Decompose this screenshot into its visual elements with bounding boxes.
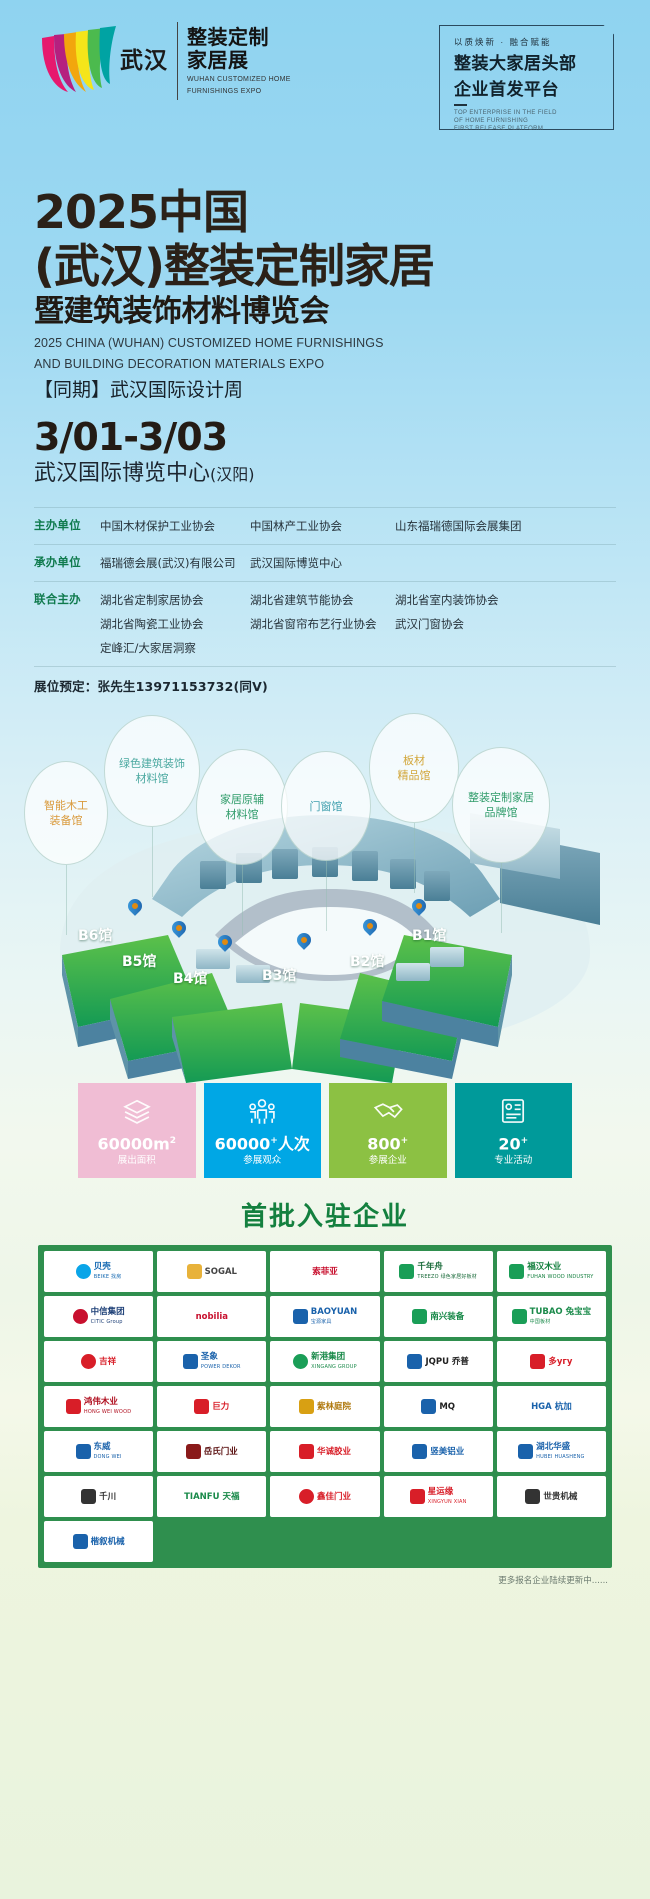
- exhibitor-logo-mark-icon: [81, 1354, 96, 1369]
- stat-value: 20+: [498, 1132, 528, 1153]
- exhibitor-logo[interactable]: nobilia: [157, 1296, 266, 1337]
- stat-superscript: +: [521, 1136, 529, 1146]
- exhibitor-logo-text: 湖北华盛HUBEI HUASHENG: [536, 1442, 584, 1462]
- organizer-cell: 山东福瑞德国际会展集团: [395, 517, 616, 535]
- exhibitor-logo-mark-icon: [407, 1354, 422, 1369]
- organizer-cell: 武汉门窗协会: [395, 615, 616, 633]
- hall-label[interactable]: B3馆: [262, 965, 296, 985]
- exhibitor-logo-text: 福汉木业FUHAN WOOD INDUSTRY: [527, 1262, 593, 1282]
- pavilion-label: 板材精品馆: [398, 753, 431, 783]
- exhibitor-logo-inner: 鑫佳门业: [299, 1489, 351, 1504]
- map-pin-icon[interactable]: [128, 899, 142, 919]
- map-pin-icon[interactable]: [172, 921, 186, 941]
- stat-number: 800: [367, 1134, 400, 1153]
- exhibitor-logo-mark-icon: [512, 1309, 527, 1324]
- exhibitor-logo-inner: 世贵机械: [525, 1489, 577, 1504]
- exhibitor-logo-inner: 福汉木业FUHAN WOOD INDUSTRY: [509, 1262, 593, 1282]
- exhibitor-logo-mark-icon: [299, 1444, 314, 1459]
- badge-line2: 企业首发平台: [454, 80, 613, 100]
- exhibitor-logo[interactable]: 新港集团XINGANG GROUP: [270, 1341, 379, 1382]
- organizer-line: 湖北省定制家居协会湖北省建筑节能协会湖北省室内装饰协会: [100, 591, 616, 609]
- stat-caption: 展出面积: [118, 1154, 156, 1167]
- exhibitor-logo[interactable]: 圣象POWER DEKOR: [157, 1341, 266, 1382]
- exhibitor-logo[interactable]: 索菲亚: [270, 1251, 379, 1292]
- exhibitor-logo-text: SOGAL: [205, 1267, 237, 1277]
- exhibitor-logo[interactable]: 鸿伟木业HONG WEI WOOD: [44, 1386, 153, 1427]
- organizer-cell: 福瑞德会展(武汉)有限公司: [100, 554, 250, 572]
- exhibitor-logo[interactable]: 千川: [44, 1476, 153, 1517]
- pavilion-label: 家居原辅材料馆: [220, 792, 264, 822]
- exhibitor-logo-text: BAOYUAN宝源家具: [311, 1307, 357, 1327]
- exhibitors-footnote: 更多报名企业陆续更新中......: [0, 1574, 608, 1586]
- exhibitor-name: 华诚胶业: [317, 1447, 351, 1457]
- exhibitor-logo-text: 鸿伟木业HONG WEI WOOD: [84, 1397, 131, 1417]
- exhibitor-logo-inner: 巨力: [194, 1399, 229, 1414]
- venue-sub: (汉阳): [210, 465, 255, 484]
- exhibitor-name: 湖北华盛: [536, 1442, 570, 1452]
- exhibitor-logo-inner: TUBAO 兔宝宝中国板材: [512, 1307, 591, 1327]
- exhibitor-logo-inner: BAOYUAN宝源家具: [293, 1307, 357, 1327]
- exhibitor-logo-mark-icon: [66, 1399, 81, 1414]
- hall-label[interactable]: B6馆: [78, 925, 112, 945]
- organizer-cell: 湖北省室内装饰协会: [395, 591, 616, 609]
- exhibitor-name: TUBAO 兔宝宝: [530, 1307, 591, 1317]
- exhibitor-name: 岳氏门业: [204, 1447, 238, 1457]
- exhibitor-logo-mark-icon: [293, 1309, 308, 1324]
- exhibitor-name: TIANFU 天福: [184, 1492, 239, 1502]
- exhibitor-subtitle: CITIC Group: [91, 1317, 125, 1327]
- exhibitor-logo-text: 华诚胶业: [317, 1447, 351, 1457]
- exhibitor-logo-text: 岳氏门业: [204, 1447, 238, 1457]
- hall-label[interactable]: B1馆: [412, 925, 446, 945]
- organizer-cell: [250, 639, 395, 657]
- exhibitor-logo[interactable]: 竖美铝业: [384, 1431, 493, 1472]
- hall-label[interactable]: B4馆: [173, 968, 207, 988]
- exhibitor-name: 索菲亚: [312, 1267, 338, 1277]
- exhibitor-logo-mark-icon: [530, 1354, 545, 1369]
- event-venue: 武汉国际博览中心(汉阳): [34, 460, 650, 489]
- logo-city-text: 武汉: [120, 49, 168, 73]
- exhibitor-logo-inner: 星运缘XINGYUN XIAN: [410, 1487, 467, 1507]
- exhibitor-logo-text: 世贵机械: [543, 1492, 577, 1502]
- exhibitor-logo-text: TUBAO 兔宝宝中国板材: [530, 1307, 591, 1327]
- pavilion-bubble[interactable]: 家居原辅材料馆: [196, 749, 288, 865]
- stat-card: 20+专业活动: [455, 1083, 573, 1178]
- pavilion-stem: [414, 823, 415, 893]
- exhibitor-logo-text: 星运缘XINGYUN XIAN: [428, 1487, 467, 1507]
- exhibitor-name: MQ: [439, 1402, 455, 1412]
- exhibitor-logo-mark-icon: [421, 1399, 436, 1414]
- people-icon: [245, 1094, 279, 1128]
- exhibitor-logo[interactable]: 华诚胶业: [270, 1431, 379, 1472]
- stat-superscript: +: [270, 1136, 278, 1146]
- exhibitor-logo[interactable]: 贝壳BEIKE 找房: [44, 1251, 153, 1292]
- exhibitor-subtitle: DONG WEI: [94, 1452, 122, 1462]
- exhibitor-logo[interactable]: 吉祥: [44, 1341, 153, 1382]
- title-line2: (武汉)整装定制家居: [34, 239, 650, 293]
- exhibitor-logo-mark-icon: [73, 1534, 88, 1549]
- exhibitor-subtitle: POWER DEKOR: [201, 1362, 241, 1372]
- exhibitor-logo[interactable]: 世贵机械: [497, 1476, 606, 1517]
- stat-caption: 参展企业: [369, 1154, 407, 1167]
- organizer-cell: 定峰汇/大家居洞察: [100, 639, 250, 657]
- exhibitor-name: 贝壳: [94, 1262, 111, 1272]
- title-block: 2025中国 (武汉)整装定制家居 暨建筑装饰材料博览会 2025 CHINA …: [0, 185, 650, 489]
- organizer-cell: [395, 639, 616, 657]
- exhibitor-subtitle: HONG WEI WOOD: [84, 1407, 131, 1417]
- exhibitor-logo[interactable]: 福汉木业FUHAN WOOD INDUSTRY: [497, 1251, 606, 1292]
- stat-superscript: +: [401, 1136, 409, 1146]
- exhibitor-logo-mark-icon: [518, 1444, 533, 1459]
- stat-card: 800+参展企业: [329, 1083, 447, 1178]
- exhibitor-subtitle: BEIKE 找房: [94, 1272, 122, 1282]
- layers-icon: [120, 1094, 154, 1128]
- exhibitor-logo-text: 千年舟TREEZO 绿色家居好板材: [417, 1262, 477, 1282]
- organizer-cell: 中国林产工业协会: [250, 517, 395, 535]
- map-pin-icon[interactable]: [412, 899, 426, 919]
- exhibitor-name: 多угу: [548, 1357, 572, 1367]
- stat-superscript: 2: [170, 1136, 176, 1146]
- exhibitor-logo[interactable]: 东威DONG WEI: [44, 1431, 153, 1472]
- exhibitor-logo-inner: 吉祥: [81, 1354, 116, 1369]
- exhibitor-logo-inner: 千年舟TREEZO 绿色家居好板材: [399, 1262, 477, 1282]
- exhibitor-logo[interactable]: 千年舟TREEZO 绿色家居好板材: [384, 1251, 493, 1292]
- exhibitor-logo-text: 紫林庭院: [317, 1402, 351, 1412]
- organizer-cell: 湖北省窗帘布艺行业协会: [250, 615, 395, 633]
- exhibitor-logo-inner: 东威DONG WEI: [76, 1442, 122, 1462]
- organizer-cell: 湖北省建筑节能协会: [250, 591, 395, 609]
- exhibitor-logo-inner: 鸿伟木业HONG WEI WOOD: [66, 1397, 131, 1417]
- exhibitor-subtitle: 中国板材: [530, 1317, 591, 1327]
- exhibitor-logo-inner: nobilia: [196, 1312, 228, 1322]
- organizer-values: 福瑞德会展(武汉)有限公司武汉国际博览中心: [100, 554, 616, 572]
- pavilion-label: 门窗馆: [310, 799, 343, 814]
- exhibitor-name: nobilia: [196, 1312, 228, 1322]
- booking-wrap: 展位预定：张先生13971153732(同V): [34, 667, 616, 695]
- pavilion-bubble[interactable]: 门窗馆: [281, 751, 371, 861]
- poster-root: 武汉 整装定制 家居展 WUHAN CUSTOMIZED HOME FURNIS…: [0, 0, 650, 1899]
- exhibitor-logo-text: 鑫佳门业: [317, 1492, 351, 1502]
- organizer-cell: 湖北省陶瓷工业协会: [100, 615, 250, 633]
- organizer-line: 湖北省陶瓷工业协会湖北省窗帘布艺行业协会武汉门窗协会: [100, 615, 616, 633]
- exhibitor-logo-inner: 新港集团XINGANG GROUP: [293, 1352, 357, 1372]
- exhibitor-logo-frame: 贝壳BEIKE 找房SOGAL索菲亚千年舟TREEZO 绿色家居好板材福汉木业F…: [38, 1245, 612, 1568]
- exhibitor-logo[interactable]: 多угу: [497, 1341, 606, 1382]
- exhibitor-subtitle: FUHAN WOOD INDUSTRY: [527, 1272, 593, 1282]
- exhibitor-logo-mark-icon: [76, 1444, 91, 1459]
- organizer-line: 中国木材保护工业协会中国林产工业协会山东福瑞德国际会展集团: [100, 517, 616, 535]
- exhibitor-logo-inner: 索菲亚: [312, 1267, 338, 1277]
- exhibitor-logo-inner: 楷叙机械: [73, 1534, 125, 1549]
- organizer-cell: 中国木材保护工业协会: [100, 517, 250, 535]
- exhibitor-logo-text: 南兴装备: [430, 1312, 464, 1322]
- pavilion-stem: [152, 827, 153, 897]
- exhibitor-name: 千年舟: [417, 1262, 443, 1272]
- badge-en2: OF HOME FURNISHING: [454, 117, 613, 125]
- logo-en-line2: FURNISHINGS EXPO: [187, 87, 291, 96]
- pavilion-label: 绿色建筑装饰材料馆: [119, 756, 185, 786]
- exhibitor-name: 鸿伟木业: [84, 1397, 118, 1407]
- exhibitor-logo-inner: 华诚胶业: [299, 1444, 351, 1459]
- hall-label[interactable]: B5馆: [122, 951, 156, 971]
- logo-city: 武汉: [120, 49, 168, 73]
- stat-number: 60000: [215, 1134, 271, 1153]
- exhibitor-logo-text: 吉祥: [99, 1357, 116, 1367]
- stat-value: 60000m2: [97, 1132, 176, 1153]
- exhibitor-name: BAOYUAN: [311, 1307, 357, 1317]
- exhibitor-logo-mark-icon: [186, 1444, 201, 1459]
- exhibitor-name: 紫林庭院: [317, 1402, 351, 1412]
- exhibitor-logo-inner: TIANFU 天福: [184, 1492, 239, 1502]
- exhibitor-logo-text: 巨力: [212, 1402, 229, 1412]
- logo-mark-icon: [32, 22, 116, 100]
- organizer-line: 福瑞德会展(武汉)有限公司武汉国际博览中心: [100, 554, 616, 572]
- exhibitor-logo-mark-icon: [293, 1354, 308, 1369]
- stat-value: 800+: [367, 1132, 408, 1153]
- exhibitor-logo[interactable]: JQPU 乔普: [384, 1341, 493, 1382]
- exhibitor-logo-mark-icon: [525, 1489, 540, 1504]
- map-pin-icon[interactable]: [218, 935, 232, 955]
- pavilion-stem: [242, 865, 243, 935]
- pavilion-stem: [501, 863, 502, 933]
- pavilion-label: 整装定制家居品牌馆: [468, 790, 534, 820]
- venue-main: 武汉国际博览中心: [34, 461, 210, 486]
- organizer-label: 承办单位: [34, 554, 100, 571]
- map-pin-icon[interactable]: [297, 933, 311, 953]
- venue-map: 智能木工装备馆绿色建筑装饰材料馆家居原辅材料馆门窗馆板材精品馆整装定制家居品牌馆…: [0, 703, 650, 1083]
- exhibitor-logo[interactable]: HGA 杭加: [497, 1386, 606, 1427]
- booth-booking-contact: 展位预定：张先生13971153732(同V): [34, 667, 616, 695]
- exhibitor-logo-inner: 竖美铝业: [412, 1444, 464, 1459]
- exhibitor-logo-grid: 贝壳BEIKE 找房SOGAL索菲亚千年舟TREEZO 绿色家居好板材福汉木业F…: [44, 1251, 606, 1562]
- exhibitor-logo-text: 千川: [99, 1492, 116, 1502]
- title-line3: 暨建筑装饰材料博览会: [34, 294, 650, 330]
- exhibitor-logo-inner: 多угу: [530, 1354, 572, 1369]
- organizer-cell: 湖北省定制家居协会: [100, 591, 250, 609]
- exhibitor-logo-text: MQ: [439, 1402, 455, 1412]
- exhibitor-logo-text: 圣象POWER DEKOR: [201, 1352, 241, 1372]
- exhibitor-logo-text: 中信集团CITIC Group: [91, 1307, 125, 1327]
- exhibitor-logo-text: JQPU 乔普: [425, 1357, 468, 1367]
- exhibitor-logo-mark-icon: [76, 1264, 91, 1279]
- logo-name-line1: 整装定制: [187, 26, 291, 49]
- pavilion-stem: [326, 861, 327, 931]
- stat-number: 60000m: [97, 1134, 169, 1153]
- exhibitor-logo-inner: MQ: [421, 1399, 455, 1414]
- exhibitor-logo-mark-icon: [183, 1354, 198, 1369]
- exhibitor-logo-text: 新港集团XINGANG GROUP: [311, 1352, 357, 1372]
- stat-card: 60000m2展出面积: [78, 1083, 196, 1178]
- exhibitor-subtitle: 宝源家具: [311, 1317, 357, 1327]
- exhibitor-logo-inner: 南兴装备: [412, 1309, 464, 1324]
- exhibitor-subtitle: TREEZO 绿色家居好板材: [417, 1272, 477, 1282]
- exhibitor-name: 中信集团: [91, 1307, 125, 1317]
- badge-tagline: 以质焕新 · 融合赋能: [454, 36, 613, 48]
- exhibitor-logo[interactable]: 中信集团CITIC Group: [44, 1296, 153, 1337]
- organizer-cell: 武汉国际博览中心: [250, 554, 395, 572]
- exhibitor-logo-mark-icon: [81, 1489, 96, 1504]
- exhibitor-name: 世贵机械: [543, 1492, 577, 1502]
- exhibitor-name: JQPU 乔普: [425, 1357, 468, 1367]
- stat-suffix: 人次: [278, 1134, 310, 1153]
- exhibitor-name: 南兴装备: [430, 1312, 464, 1322]
- title-en-line1: 2025 CHINA (WUHAN) CUSTOMIZED HOME FURNI…: [34, 336, 650, 351]
- organizer-values: 湖北省定制家居协会湖北省建筑节能协会湖北省室内装饰协会湖北省陶瓷工业协会湖北省窗…: [100, 591, 616, 657]
- exhibitor-logo-mark-icon: [187, 1264, 202, 1279]
- exhibitor-logo-text: 多угу: [548, 1357, 572, 1367]
- exhibitor-name: 楷叙机械: [91, 1537, 125, 1547]
- exhibitor-subtitle: XINGANG GROUP: [311, 1362, 357, 1372]
- exhibitor-logo-inner: 千川: [81, 1489, 116, 1504]
- exhibitor-logo-mark-icon: [299, 1489, 314, 1504]
- organizer-cell: [395, 554, 616, 572]
- exhibitor-logo-mark-icon: [399, 1264, 414, 1279]
- exhibitor-logo[interactable]: 鑫佳门业: [270, 1476, 379, 1517]
- exhibitor-subtitle: HUBEI HUASHENG: [536, 1452, 584, 1462]
- exhibitor-name: 新港集团: [311, 1352, 345, 1362]
- exhibitor-logo[interactable]: TUBAO 兔宝宝中国板材: [497, 1296, 606, 1337]
- exhibitor-logo-inner: 圣象POWER DEKOR: [183, 1352, 241, 1372]
- organizer-row: 联合主办湖北省定制家居协会湖北省建筑节能协会湖北省室内装饰协会湖北省陶瓷工业协会…: [34, 581, 616, 667]
- stat-card: 60000+人次参展观众: [204, 1083, 322, 1178]
- exhibitor-name: 千川: [99, 1492, 116, 1502]
- exhibitor-name: 福汉木业: [527, 1262, 561, 1272]
- exhibitor-name: 巨力: [212, 1402, 229, 1412]
- exhibitor-logo-text: TIANFU 天福: [184, 1492, 239, 1502]
- exhibitor-logo-text: 楷叙机械: [91, 1537, 125, 1547]
- exhibitor-logo[interactable]: 紫林庭院: [270, 1386, 379, 1427]
- exhibitor-logo[interactable]: BAOYUAN宝源家具: [270, 1296, 379, 1337]
- exhibitor-name: 东威: [94, 1442, 111, 1452]
- organizer-table: 主办单位中国木材保护工业协会中国林产工业协会山东福瑞德国际会展集团承办单位福瑞德…: [34, 507, 616, 667]
- exhibitor-logo-mark-icon: [412, 1309, 427, 1324]
- exhibitor-logo-mark-icon: [410, 1489, 425, 1504]
- exhibitor-logo-inner: 岳氏门业: [186, 1444, 238, 1459]
- exhibitor-logo[interactable]: 巨力: [157, 1386, 266, 1427]
- logo-en-line1: WUHAN CUSTOMIZED HOME: [187, 75, 291, 84]
- exhibitor-logo-inner: 中信集团CITIC Group: [73, 1307, 125, 1327]
- exhibitor-logo-text: 东威DONG WEI: [94, 1442, 122, 1462]
- logo-name-line2: 家居展: [187, 49, 291, 72]
- exhibitor-logo-inner: 贝壳BEIKE 找房: [76, 1262, 122, 1282]
- organizer-label: 主办单位: [34, 517, 100, 534]
- exhibitor-name: 鑫佳门业: [317, 1492, 351, 1502]
- exhibitor-logo-inner: 紫林庭院: [299, 1399, 351, 1414]
- exhibitor-logo[interactable]: 岳氏门业: [157, 1431, 266, 1472]
- exhibitor-logo-text: 贝壳BEIKE 找房: [94, 1262, 122, 1282]
- exhibitor-logo-text: HGA 杭加: [531, 1402, 572, 1412]
- poster-header: 武汉 整装定制 家居展 WUHAN CUSTOMIZED HOME FURNIS…: [0, 0, 650, 185]
- map-pin-icon[interactable]: [363, 919, 377, 939]
- exhibitor-name: 吉祥: [99, 1357, 116, 1367]
- stat-caption: 专业活动: [494, 1154, 532, 1167]
- organizer-row: 主办单位中国木材保护工业协会中国林产工业协会山东福瑞德国际会展集团: [34, 507, 616, 544]
- event-date: 3/01-3/03: [34, 415, 650, 459]
- exhibitor-name: HGA 杭加: [531, 1402, 572, 1412]
- exhibitor-logo-mark-icon: [299, 1399, 314, 1414]
- organizer-row: 承办单位福瑞德会展(武汉)有限公司武汉国际博览中心: [34, 544, 616, 581]
- badge-en3: FIRST RELEASE PLATFORM: [454, 125, 613, 133]
- exhibitor-name: SOGAL: [205, 1267, 237, 1277]
- exhibitor-logo-inner: SOGAL: [187, 1264, 237, 1279]
- pavilion-bubble[interactable]: 智能木工装备馆: [24, 761, 108, 865]
- pavilion-label: 智能木工装备馆: [44, 798, 88, 828]
- stat-number: 20: [498, 1134, 520, 1153]
- title-en-line2: AND BUILDING DECORATION MATERIALS EXPO: [34, 357, 650, 372]
- exhibitor-logo[interactable]: 星运缘XINGYUN XIAN: [384, 1476, 493, 1517]
- stats-row: 60000m2展出面积60000+人次参展观众800+参展企业20+专业活动: [78, 1083, 572, 1178]
- exhibitor-logo-text: nobilia: [196, 1312, 228, 1322]
- exhibitor-logo-mark-icon: [194, 1399, 209, 1414]
- pavilion-bubble[interactable]: 整装定制家居品牌馆: [452, 747, 550, 863]
- badge-divider: [454, 104, 467, 106]
- exhibitor-logo[interactable]: 楷叙机械: [44, 1521, 153, 1562]
- exhibitor-logo[interactable]: TIANFU 天福: [157, 1476, 266, 1517]
- exhibitor-logo-text: 竖美铝业: [430, 1447, 464, 1457]
- exhibitor-logo[interactable]: MQ: [384, 1386, 493, 1427]
- handshake-icon: [371, 1094, 405, 1128]
- logo-divider: [177, 22, 178, 100]
- organizer-label: 联合主办: [34, 591, 100, 608]
- exhibitor-name: 圣象: [201, 1352, 218, 1362]
- exhibitors-title: 首批入驻企业: [0, 1196, 650, 1233]
- card-icon: [496, 1094, 530, 1128]
- badge-en1: TOP ENTERPRISE IN THE FIELD: [454, 109, 613, 117]
- exhibitor-logo-inner: HGA 杭加: [531, 1402, 572, 1412]
- exhibitor-logo-inner: JQPU 乔普: [407, 1354, 468, 1369]
- exhibitor-logo-mark-icon: [412, 1444, 427, 1459]
- exhibitor-logo-text: 索菲亚: [312, 1267, 338, 1277]
- badge-line1: 整装大家居头部: [454, 54, 613, 74]
- stat-caption: 参展观众: [243, 1154, 281, 1167]
- exhibitor-name: 竖美铝业: [430, 1447, 464, 1457]
- exhibitor-logo-inner: 湖北华盛HUBEI HUASHENG: [518, 1442, 584, 1462]
- organizer-line: 定峰汇/大家居洞察: [100, 639, 616, 657]
- pavilion-bubble[interactable]: 板材精品馆: [369, 713, 459, 823]
- exhibitor-subtitle: XINGYUN XIAN: [428, 1497, 467, 1507]
- pavilion-bubble[interactable]: 绿色建筑装饰材料馆: [104, 715, 200, 827]
- exhibitor-logo-mark-icon: [73, 1309, 88, 1324]
- organizer-values: 中国木材保护工业协会中国林产工业协会山东福瑞德国际会展集团: [100, 517, 616, 535]
- stat-value: 60000+人次: [215, 1132, 310, 1153]
- exhibitor-logo[interactable]: SOGAL: [157, 1251, 266, 1292]
- logo-name: 整装定制 家居展 WUHAN CUSTOMIZED HOME FURNISHIN…: [187, 26, 291, 96]
- exhibitor-name: 星运缘: [428, 1487, 454, 1497]
- exhibitor-logo[interactable]: 湖北华盛HUBEI HUASHENG: [497, 1431, 606, 1472]
- exhibitor-logo-mark-icon: [509, 1264, 524, 1279]
- tagline-badge: 以质焕新 · 融合赋能 整装大家居头部 企业首发平台 TOP ENTERPRIS…: [439, 25, 614, 130]
- pavilion-stem: [66, 865, 67, 935]
- concurrent-event: 【同期】武汉国际设计周: [34, 377, 650, 403]
- brand-logo: 武汉 整装定制 家居展 WUHAN CUSTOMIZED HOME FURNIS…: [32, 22, 291, 100]
- exhibitor-logo[interactable]: 南兴装备: [384, 1296, 493, 1337]
- hall-label[interactable]: B2馆: [350, 951, 384, 971]
- title-line1: 2025中国: [34, 185, 650, 239]
